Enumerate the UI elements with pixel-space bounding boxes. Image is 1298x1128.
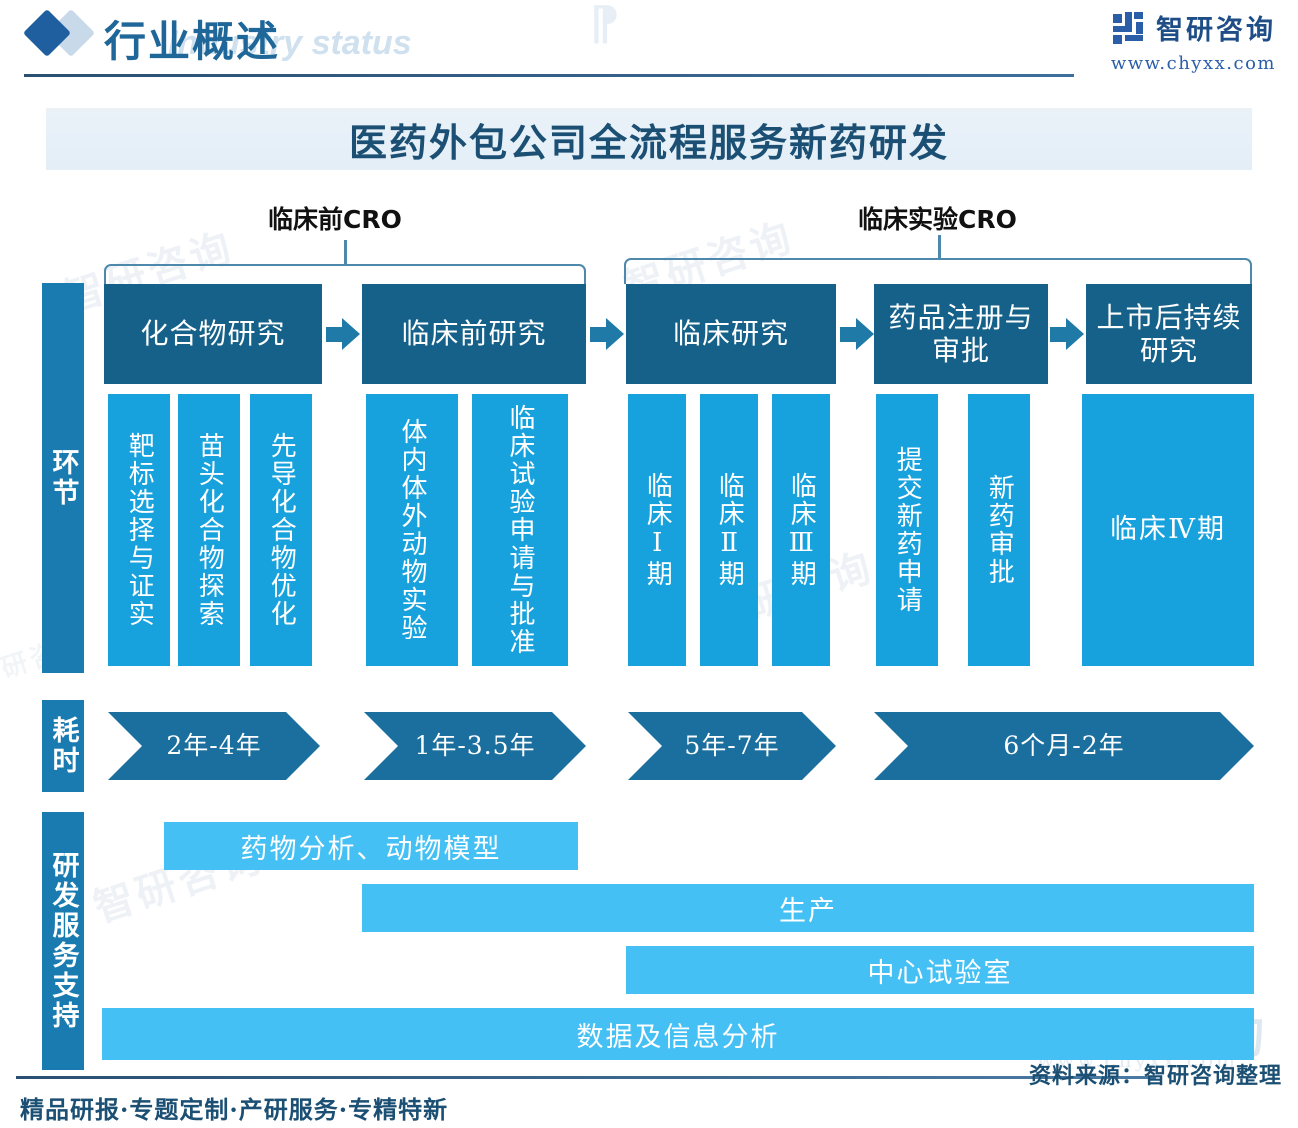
stage-box-5[interactable]: 上市后持续研究 bbox=[1086, 284, 1252, 384]
side-label-duration: 耗时 bbox=[42, 700, 84, 792]
stage-arrow-4 bbox=[1050, 318, 1084, 350]
cro-label-clinical: 临床实验CRO bbox=[858, 200, 1017, 236]
bracket-clinical bbox=[624, 258, 1252, 284]
stage-box-1[interactable]: 化合物研究 bbox=[104, 284, 322, 384]
duration-chevron-3: 5年-7年 bbox=[628, 712, 836, 780]
substep-box-8[interactable]: 临床Ⅲ期 bbox=[772, 394, 830, 666]
substep-box-10[interactable]: 新药审批 bbox=[968, 394, 1030, 666]
side-label-service: 研发服务支持 bbox=[42, 812, 84, 1070]
stage-box-3[interactable]: 临床研究 bbox=[626, 284, 836, 384]
page-header: Industry status 行业概述 智研咨询 www.chyxx.com bbox=[0, 0, 1298, 86]
stage-arrow-3 bbox=[840, 318, 874, 350]
page-title: 行业概述 bbox=[104, 8, 280, 69]
cro-label-preclinical: 临床前CRO bbox=[268, 200, 402, 236]
footer-source: 资料来源：智研咨询整理 bbox=[1029, 1058, 1282, 1090]
stage-arrow-1 bbox=[326, 318, 360, 350]
logo-name: 智研咨询 bbox=[1156, 8, 1276, 47]
chart-title: 医药外包公司全流程服务新药研发 bbox=[0, 108, 1298, 170]
bracket-stem-preclinical bbox=[344, 240, 347, 266]
substep-box-3[interactable]: 先导化合物优化 bbox=[250, 394, 312, 666]
stage-arrow-2 bbox=[590, 318, 624, 350]
logo-url: www.chyxx.com bbox=[1111, 53, 1276, 74]
substep-box-2[interactable]: 苗头化合物探索 bbox=[178, 394, 240, 666]
duration-chevron-2: 1年-3.5年 bbox=[364, 712, 586, 780]
substep-box-6[interactable]: 临床Ⅰ期 bbox=[628, 394, 686, 666]
chyxx-logo-icon bbox=[1111, 10, 1147, 46]
substep-box-7[interactable]: 临床Ⅱ期 bbox=[700, 394, 758, 666]
footer-tagline: 精品研报·专题定制·产研服务·专精特新 bbox=[20, 1090, 448, 1125]
substep-box-1[interactable]: 靶标选择与证实 bbox=[108, 394, 170, 666]
brand-logo: 智研咨询 www.chyxx.com bbox=[1111, 8, 1276, 74]
stage-box-4[interactable]: 药品注册与审批 bbox=[874, 284, 1048, 384]
side-label-stage: 环节 bbox=[42, 283, 84, 673]
header-divider bbox=[24, 74, 1074, 77]
footer-divider bbox=[16, 1076, 1156, 1079]
stage-box-2[interactable]: 临床前研究 bbox=[362, 284, 586, 384]
bracket-preclinical bbox=[104, 264, 586, 286]
substep-box-11[interactable]: 临床Ⅳ期 bbox=[1082, 394, 1254, 666]
service-bar-1: 药物分析、动物模型 bbox=[164, 822, 578, 870]
service-bar-4: 数据及信息分析 bbox=[102, 1008, 1254, 1060]
duration-chevron-4: 6个月-2年 bbox=[874, 712, 1254, 780]
substep-box-5[interactable]: 临床试验申请与批准 bbox=[472, 394, 568, 666]
service-bar-2: 生产 bbox=[362, 884, 1254, 932]
substep-box-4[interactable]: 体内体外动物实验 bbox=[366, 394, 458, 666]
duration-chevron-1: 2年-4年 bbox=[108, 712, 320, 780]
substep-box-9[interactable]: 提交新药申请 bbox=[876, 394, 938, 666]
bracket-stem-clinical bbox=[938, 235, 941, 260]
service-bar-3: 中心试验室 bbox=[626, 946, 1254, 994]
